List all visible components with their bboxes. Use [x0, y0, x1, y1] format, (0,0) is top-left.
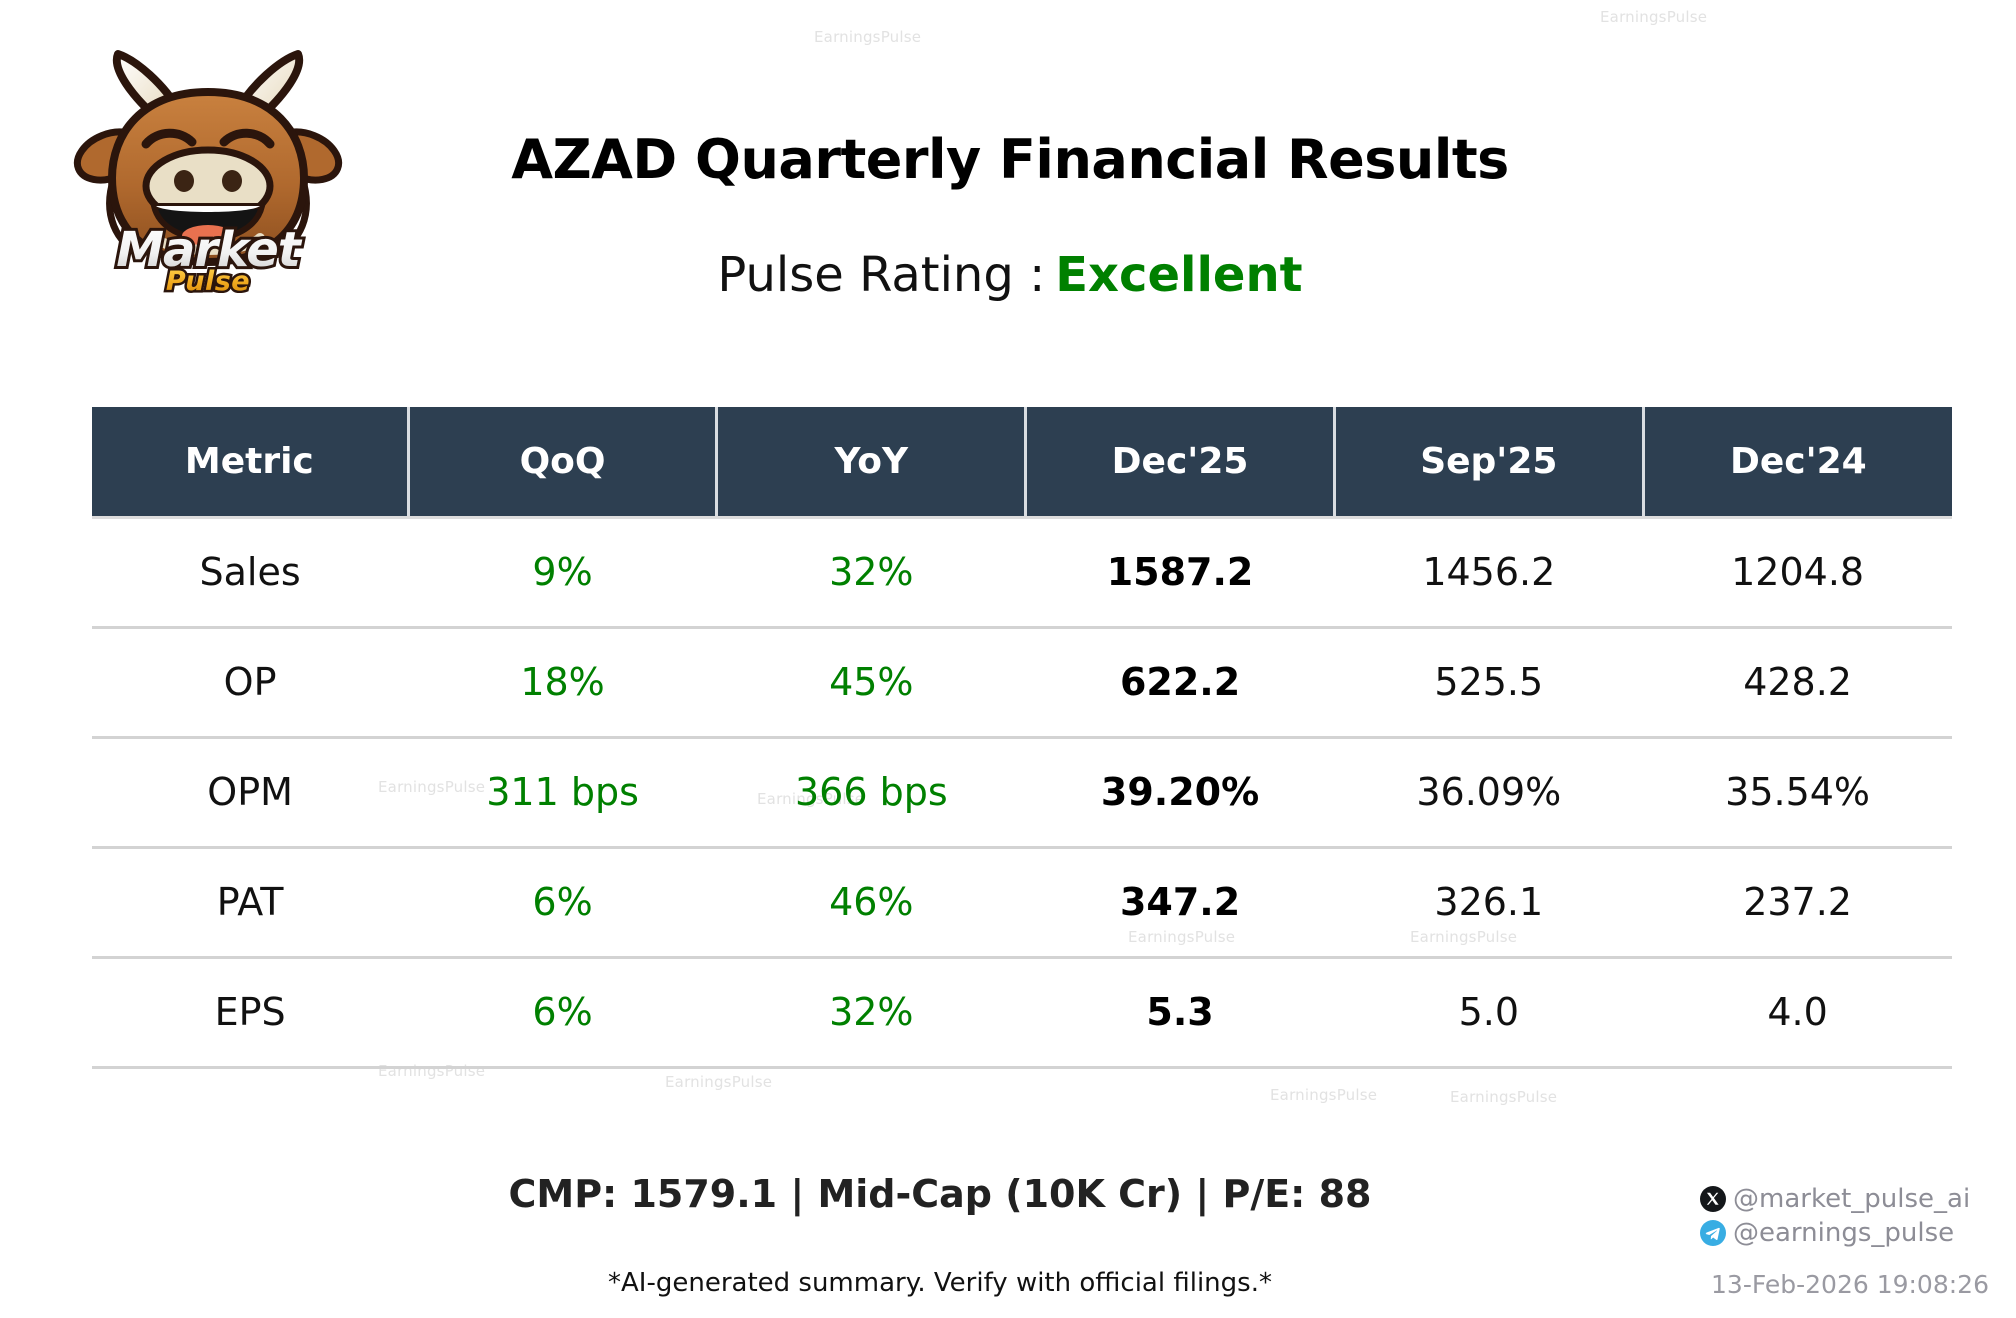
table-row: EPS 6% 32% 5.3 5.0 4.0: [92, 957, 1952, 1067]
social-row-x[interactable]: @market_pulse_ai: [1700, 1183, 2000, 1215]
cell-dec25: 39.20%: [1026, 737, 1335, 847]
cell-metric: OP: [92, 627, 408, 737]
cell-dec24: 4.0: [1643, 957, 1952, 1067]
table-row: Sales 9% 32% 1587.2 1456.2 1204.8: [92, 517, 1952, 627]
cell-metric: Sales: [92, 517, 408, 627]
svg-text:Pulse: Pulse: [166, 266, 250, 293]
cell-sep25: 5.0: [1334, 957, 1643, 1067]
cell-qoq: 6%: [408, 957, 717, 1067]
cell-qoq: 9%: [408, 517, 717, 627]
column-header-yoy: YoY: [717, 407, 1026, 517]
cell-yoy: 366 bps: [717, 737, 1026, 847]
results-table: Metric QoQ YoY Dec'25 Sep'25 Dec'24 Sale…: [92, 407, 1952, 1069]
table-row: OP 18% 45% 622.2 525.5 428.2: [92, 627, 1952, 737]
watermark: EarningsPulse: [665, 1073, 772, 1091]
cell-yoy: 46%: [717, 847, 1026, 957]
cell-dec24: 35.54%: [1643, 737, 1952, 847]
column-header-dec24: Dec'24: [1643, 407, 1952, 517]
column-header-sep25: Sep'25: [1334, 407, 1643, 517]
pulse-rating-value: Excellent: [1055, 247, 1302, 303]
watermark: EarningsPulse: [1450, 1088, 1557, 1106]
table-body: Sales 9% 32% 1587.2 1456.2 1204.8 OP 18%…: [92, 517, 1952, 1067]
table-header: Metric QoQ YoY Dec'25 Sep'25 Dec'24: [92, 407, 1952, 517]
cell-yoy: 45%: [717, 627, 1026, 737]
cell-dec24: 237.2: [1643, 847, 1952, 957]
table-header-row: Metric QoQ YoY Dec'25 Sep'25 Dec'24: [92, 407, 1952, 517]
social-row-telegram[interactable]: @earnings_pulse: [1700, 1217, 2000, 1249]
disclaimer-text: *AI-generated summary. Verify with offic…: [160, 1268, 1720, 1298]
column-header-qoq: QoQ: [408, 407, 717, 517]
cell-metric: PAT: [92, 847, 408, 957]
generation-timestamp: 13-Feb-2026 19:08:26: [1700, 1270, 2000, 1299]
cmp-summary-line: CMP: 1579.1 | Mid-Cap (10K Cr) | P/E: 88: [160, 1172, 1720, 1216]
watermark: EarningsPulse: [1600, 8, 1707, 26]
social-handle-telegram: @earnings_pulse: [1733, 1218, 1954, 1248]
cell-qoq: 311 bps: [408, 737, 717, 847]
cell-dec25: 1587.2: [1026, 517, 1335, 627]
watermark: EarningsPulse: [1270, 1086, 1377, 1104]
cell-yoy: 32%: [717, 957, 1026, 1067]
cell-yoy: 32%: [717, 517, 1026, 627]
cell-dec25: 5.3: [1026, 957, 1335, 1067]
financial-results-table: Metric QoQ YoY Dec'25 Sep'25 Dec'24 Sale…: [92, 407, 1952, 1069]
cell-qoq: 6%: [408, 847, 717, 957]
results-card: EarningsPulse EarningsPulse EarningsPuls…: [0, 0, 2016, 1318]
cell-dec24: 1204.8: [1643, 517, 1952, 627]
cell-metric: OPM: [92, 737, 408, 847]
cell-sep25: 1456.2: [1334, 517, 1643, 627]
cell-qoq: 18%: [408, 627, 717, 737]
social-handles: @market_pulse_ai @earnings_pulse: [1700, 1183, 2000, 1251]
column-header-metric: Metric: [92, 407, 408, 517]
cell-sep25: 36.09%: [1334, 737, 1643, 847]
watermark: EarningsPulse: [814, 28, 921, 46]
telegram-icon: [1700, 1220, 1726, 1246]
cell-dec24: 428.2: [1643, 627, 1952, 737]
cell-sep25: 326.1: [1334, 847, 1643, 957]
column-header-dec25: Dec'25: [1026, 407, 1335, 517]
market-pulse-bull-logo: Market Pulse: [68, 38, 348, 293]
cell-metric: EPS: [92, 957, 408, 1067]
pulse-rating-line: Pulse Rating :Excellent: [340, 247, 1680, 303]
pulse-rating-label: Pulse Rating :: [717, 247, 1045, 303]
table-row: PAT 6% 46% 347.2 326.1 237.2: [92, 847, 1952, 957]
table-row: OPM 311 bps 366 bps 39.20% 36.09% 35.54%: [92, 737, 1952, 847]
cell-sep25: 525.5: [1334, 627, 1643, 737]
social-handle-x: @market_pulse_ai: [1733, 1184, 1970, 1214]
x-twitter-icon: [1700, 1186, 1726, 1212]
page-title: AZAD Quarterly Financial Results: [340, 128, 1680, 191]
cell-dec25: 622.2: [1026, 627, 1335, 737]
cell-dec25: 347.2: [1026, 847, 1335, 957]
